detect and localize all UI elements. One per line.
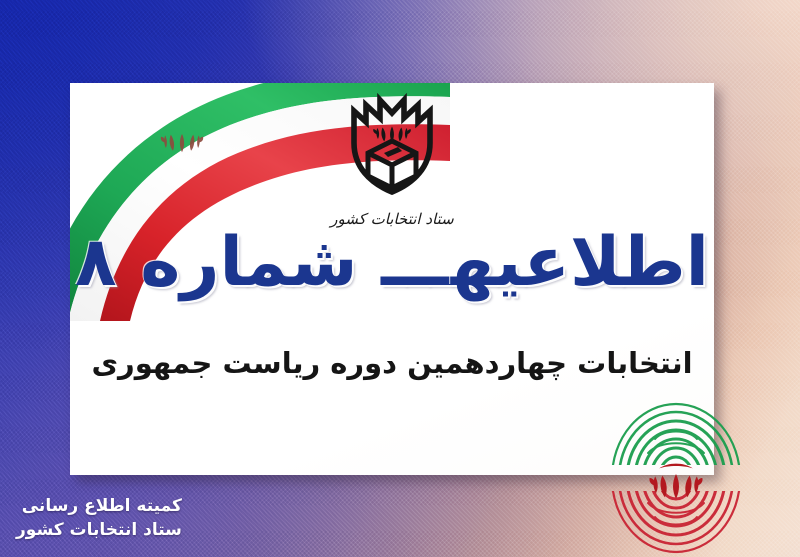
iran-emblem-icon xyxy=(373,126,411,142)
election-announcement-poster: ستاد انتخابات کشور اطلاعیهـــ شماره ۸ ان… xyxy=(0,0,800,557)
logo-block: ستاد انتخابات کشور xyxy=(287,91,497,234)
issuer-credit-line-1: کمیته اطلاع رسانی xyxy=(16,494,182,519)
announcement-card: ستاد انتخابات کشور اطلاعیهـــ شماره ۸ ان… xyxy=(70,83,714,475)
election-headquarters-emblem-icon xyxy=(332,91,452,199)
page-subtitle: انتخابات چهاردهمین دوره ریاست جمهوری xyxy=(70,345,714,381)
ballot-box-icon xyxy=(368,141,416,188)
headline-middle: شماره xyxy=(140,223,357,302)
issuer-credit-line-2: ستاد انتخابات کشور xyxy=(16,518,182,543)
headline-number: ۸ xyxy=(75,223,117,302)
page-title: اطلاعیهـــ شماره ۸ xyxy=(70,229,714,297)
headline-prefix: اطلاعیه xyxy=(451,223,709,302)
issuer-credit: کمیته اطلاع رسانی ستاد انتخابات کشور xyxy=(16,494,182,543)
